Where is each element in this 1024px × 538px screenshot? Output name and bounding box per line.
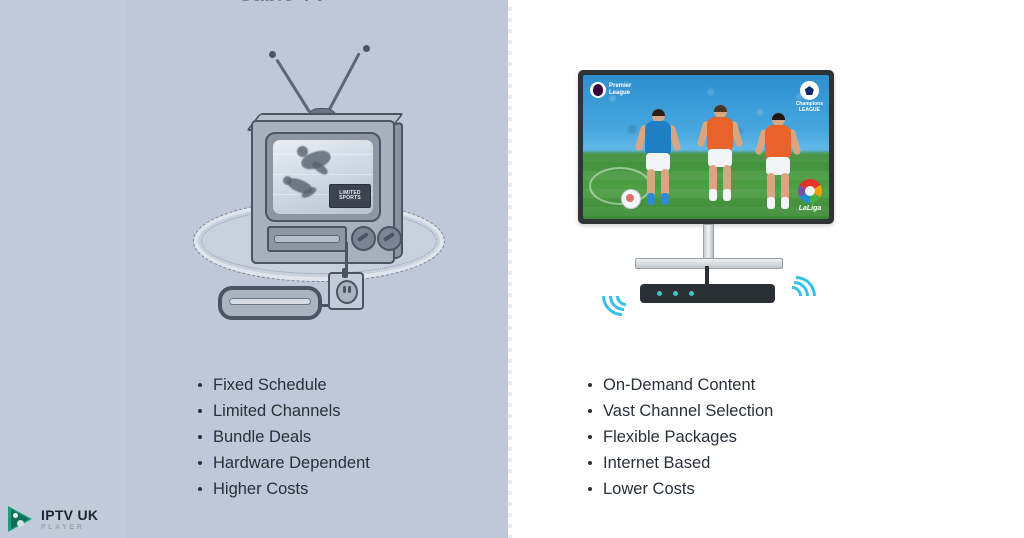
premier-league-line2: League bbox=[609, 90, 631, 97]
premier-league-line1: Premier bbox=[609, 83, 631, 90]
player-sock bbox=[723, 189, 731, 201]
cable-tv-title-text: Cable TV bbox=[238, 0, 398, 4]
antenna-right-icon bbox=[326, 52, 361, 113]
crt-bezel: LIMITED SPORTS bbox=[265, 132, 381, 222]
router-led bbox=[657, 291, 662, 296]
outlet-prong bbox=[348, 286, 351, 293]
laliga-pinwheel-icon bbox=[798, 179, 822, 203]
list-item: Hardware Dependent bbox=[196, 450, 370, 476]
logo-wordmark: IPTV UK PLAYER bbox=[41, 508, 98, 531]
wifi-waves-right-icon bbox=[778, 276, 812, 310]
panel-divider bbox=[508, 0, 512, 538]
list-item: Flexible Packages bbox=[586, 424, 773, 450]
iptv-uk-player-logo[interactable]: IPTV UK PLAYER bbox=[8, 503, 123, 535]
logo-sub-text: PLAYER bbox=[41, 524, 98, 531]
wifi-wave bbox=[768, 268, 825, 325]
player-jersey bbox=[645, 121, 671, 155]
laliga-logo: LaLiga bbox=[798, 179, 822, 212]
outlet-socket-face bbox=[336, 280, 358, 304]
champions-league-line2: LEAGUE bbox=[796, 107, 823, 113]
list-item: Bundle Deals bbox=[196, 424, 370, 450]
player-hair bbox=[714, 105, 727, 112]
premier-league-label: Premier League bbox=[609, 83, 631, 97]
iptv-feature-list: On-Demand Content Vast Channel Selection… bbox=[586, 372, 773, 502]
player-sock bbox=[781, 197, 789, 209]
limited-sports-line2: SPORTS bbox=[339, 196, 361, 201]
champions-league-starball-icon bbox=[800, 81, 819, 100]
flat-tv-screen: Premier League Champions LEAGUE LaLiga bbox=[583, 75, 829, 219]
player-sock bbox=[661, 193, 669, 205]
player-sock bbox=[709, 189, 717, 201]
limited-sports-badge: LIMITED SPORTS bbox=[329, 184, 371, 208]
router-led bbox=[689, 291, 694, 296]
antenna-left-tip bbox=[269, 51, 276, 58]
logo-dot bbox=[17, 520, 24, 527]
cable-tv-feature-list: Fixed Schedule Limited Channels Bundle D… bbox=[196, 372, 370, 502]
antenna-left-icon bbox=[275, 59, 310, 113]
player-sock bbox=[647, 193, 655, 205]
player-sock bbox=[767, 197, 775, 209]
list-item: Internet Based bbox=[586, 450, 773, 476]
wifi-router bbox=[640, 284, 775, 303]
outlet-prong bbox=[343, 286, 346, 293]
premier-league-logo: Premier League bbox=[590, 82, 631, 98]
router-led bbox=[673, 291, 678, 296]
logo-main-text: IPTV UK bbox=[41, 508, 98, 522]
player-jersey bbox=[707, 117, 733, 151]
wall-outlet bbox=[328, 272, 364, 310]
champions-league-label: Champions LEAGUE bbox=[796, 101, 823, 113]
tv-stand-neck bbox=[703, 224, 714, 262]
tv-stand-base bbox=[635, 258, 783, 269]
left-panel-edge-band bbox=[0, 0, 125, 538]
football-player bbox=[751, 113, 805, 213]
outlet-plug bbox=[342, 268, 348, 278]
comparison-diagram: Cable TV bbox=[0, 0, 1024, 538]
flat-tv-frame: Premier League Champions LEAGUE LaLiga bbox=[578, 70, 834, 224]
list-item: Higher Costs bbox=[196, 476, 370, 502]
list-item: On-Demand Content bbox=[586, 372, 773, 398]
champions-league-logo: Champions LEAGUE bbox=[796, 81, 823, 113]
player-hair bbox=[652, 109, 665, 116]
antenna-right-tip bbox=[363, 45, 370, 52]
logo-dot bbox=[13, 513, 18, 518]
flat-tv-illustration: Premier League Champions LEAGUE LaLiga bbox=[578, 70, 838, 320]
play-triangle-icon bbox=[8, 506, 35, 532]
player-jersey bbox=[765, 125, 791, 159]
crt-television-illustration: LIMITED SPORTS bbox=[185, 24, 450, 324]
cable-tv-title-clipped: Cable TV bbox=[238, 0, 398, 4]
crt-knob-one bbox=[351, 226, 376, 251]
list-item: Vast Channel Selection bbox=[586, 398, 773, 424]
premier-league-lion-icon bbox=[590, 82, 606, 98]
crt-knob-two bbox=[377, 226, 402, 251]
list-item: Lower Costs bbox=[586, 476, 773, 502]
player-hair bbox=[772, 113, 785, 120]
wifi-waves-left-icon bbox=[600, 276, 634, 310]
football-player bbox=[693, 105, 747, 213]
football-ball bbox=[621, 189, 641, 209]
coiled-cable bbox=[218, 286, 322, 320]
crt-screen: LIMITED SPORTS bbox=[273, 140, 373, 214]
list-item: Fixed Schedule bbox=[196, 372, 370, 398]
laliga-label: LaLiga bbox=[799, 205, 822, 212]
list-item: Limited Channels bbox=[196, 398, 370, 424]
